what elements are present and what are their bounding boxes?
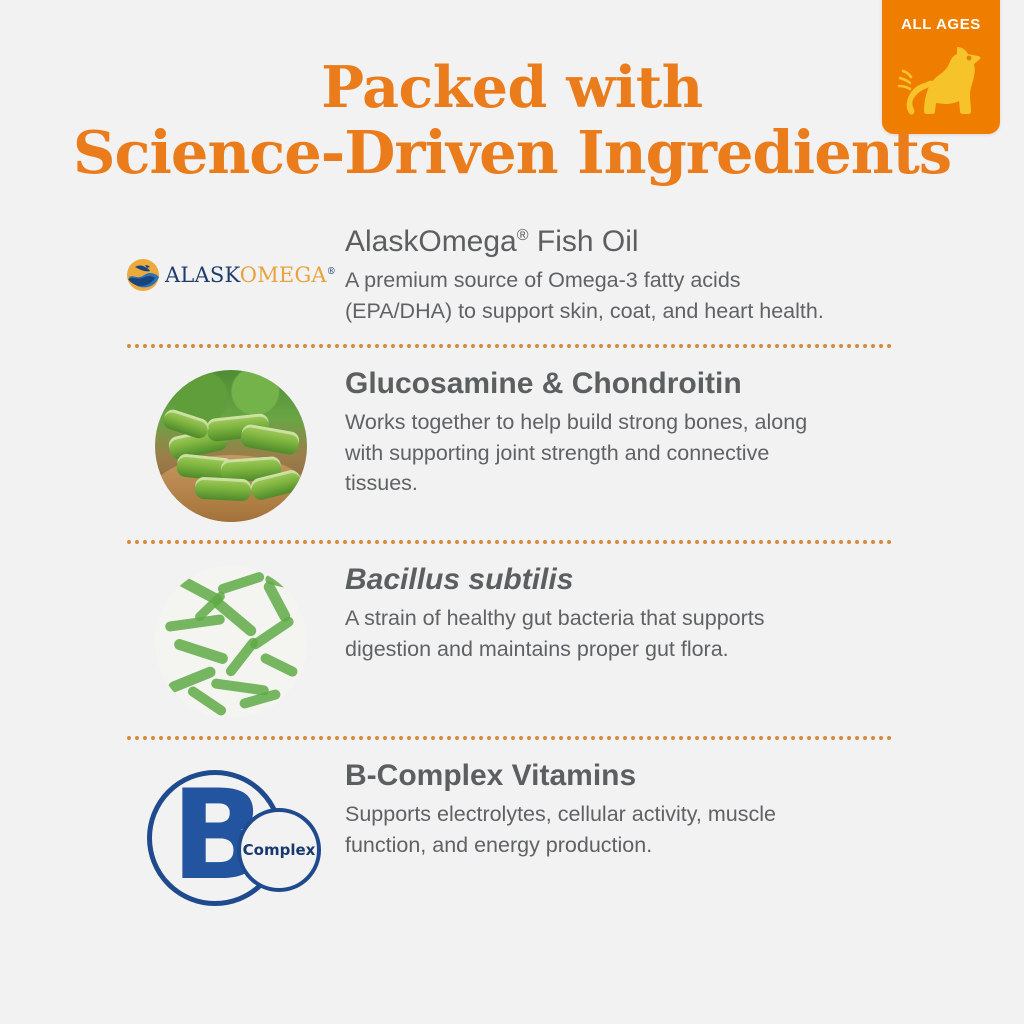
ingredient-list: ALASKOMEGA® AlaskOmega® Fish Oil A premi… — [127, 224, 897, 918]
ingredient-text-bacillus: Bacillus subtilis A strain of healthy gu… — [335, 562, 897, 664]
ingredient-title-alaskomega-main: AlaskOmega — [345, 225, 517, 258]
ingredient-description-glucosamine: Works together to help build strong bone… — [345, 407, 845, 498]
green-capsules-photo — [155, 370, 307, 522]
ingredient-media-bacillus — [127, 562, 335, 718]
ingredient-media-alaskomega: ALASKOMEGA® — [127, 224, 335, 292]
alaskomega-wordmark: ALASKOMEGA® — [165, 263, 336, 287]
alaskomega-word-part2: OMEGA — [240, 263, 327, 287]
alaskomega-word-part1: ALASK — [165, 263, 240, 287]
ingredient-title-b-complex: B-Complex Vitamins — [345, 758, 897, 793]
ingredient-description-bacillus: A strain of healthy gut bacteria that su… — [345, 603, 845, 664]
b-complex-small-circle: Complex — [237, 808, 321, 892]
ingredient-media-b-complex: B Complex — [127, 758, 335, 918]
alaskomega-logo: ALASKOMEGA® — [126, 258, 336, 292]
ingredient-row-glucosamine-chondroitin: Glucosamine & Chondroitin Works together… — [127, 366, 897, 522]
row-divider-3 — [127, 736, 892, 740]
b-complex-logo: B Complex — [145, 768, 317, 918]
ingredient-description-alaskomega: A premium source of Omega-3 fatty acids … — [345, 265, 845, 326]
row-divider-1 — [127, 344, 892, 348]
ingredient-title-alaskomega-suffix: Fish Oil — [529, 225, 639, 258]
page-title: Packed with Science-Driven Ingredients — [0, 56, 1024, 186]
ingredient-title-alaskomega: AlaskOmega® Fish Oil — [345, 224, 897, 259]
alaskomega-mark-icon — [126, 258, 160, 292]
ingredient-title-bacillus: Bacillus subtilis — [345, 562, 897, 597]
ingredient-text-alaskomega: AlaskOmega® Fish Oil A premium source of… — [335, 224, 897, 326]
ingredient-text-b-complex: B-Complex Vitamins Supports electrolytes… — [335, 758, 897, 860]
bacteria-microscopy-photo — [155, 566, 307, 718]
page-title-line-1: Packed with — [0, 56, 1024, 120]
ingredient-text-glucosamine: Glucosamine & Chondroitin Works together… — [335, 366, 897, 498]
b-complex-small-circle-label: Complex — [243, 841, 316, 859]
ingredient-media-glucosamine — [127, 366, 335, 522]
ingredient-description-b-complex: Supports electrolytes, cellular activity… — [345, 799, 845, 860]
all-ages-badge-label: ALL AGES — [901, 16, 981, 33]
ingredient-title-glucosamine: Glucosamine & Chondroitin — [345, 366, 897, 401]
ingredient-row-b-complex-vitamins: B Complex B-Complex Vitamins Supports el… — [127, 758, 897, 918]
row-divider-2 — [127, 540, 892, 544]
ingredient-row-bacillus-subtilis: Bacillus subtilis A strain of healthy gu… — [127, 562, 897, 718]
ingredient-title-alaskomega-registered: ® — [517, 227, 529, 244]
page-title-line-2: Science-Driven Ingredients — [0, 120, 1024, 186]
ingredient-row-alaskomega-fish-oil: ALASKOMEGA® AlaskOmega® Fish Oil A premi… — [127, 224, 897, 326]
